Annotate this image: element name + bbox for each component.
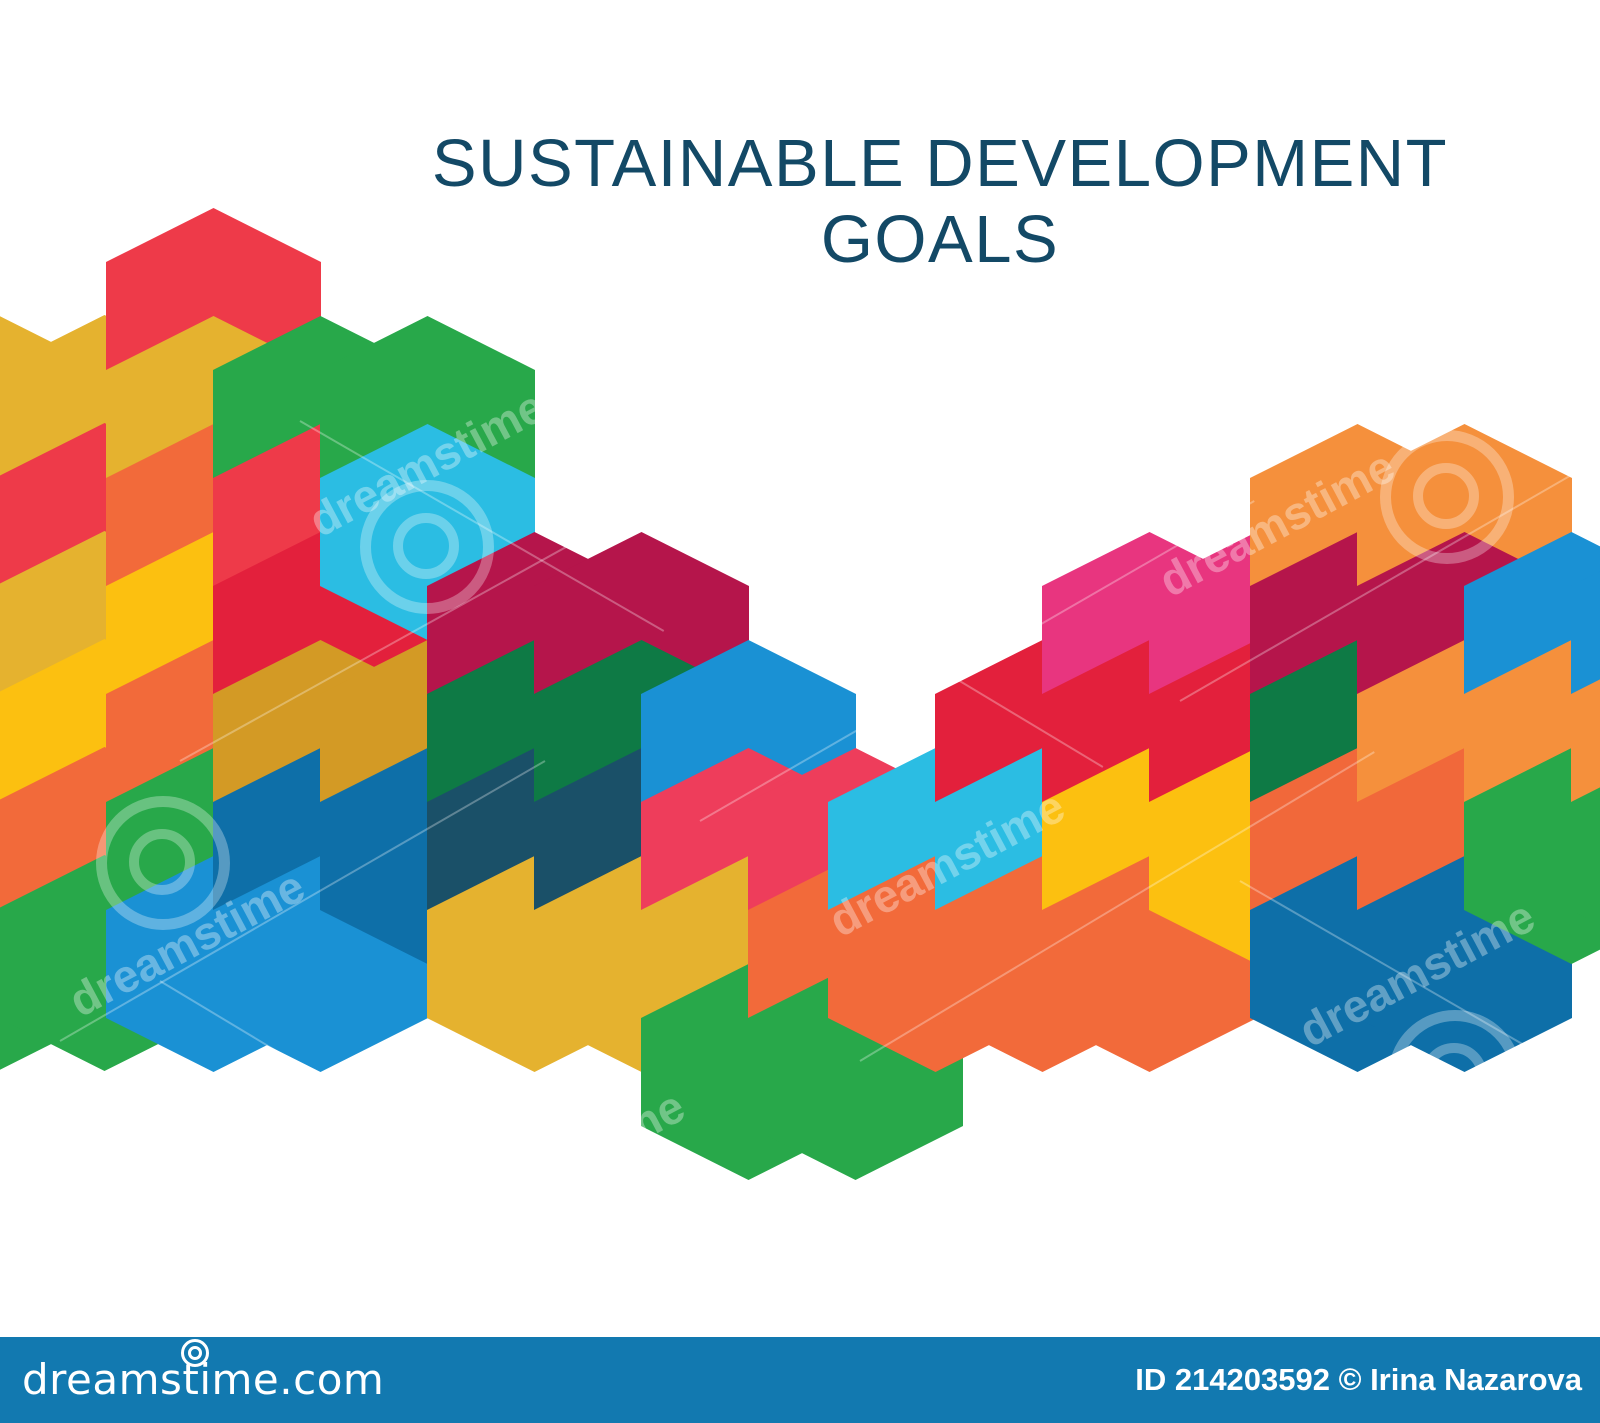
chevron-tiles xyxy=(0,208,1600,1180)
dreamstime-logo[interactable]: dreamstime.com xyxy=(22,1359,384,1401)
stock-footer-bar: dreamstime.com ID 214203592 © Irina Naza… xyxy=(0,1337,1600,1423)
chevron-mosaic-artwork xyxy=(0,0,1600,1340)
dreamstime-logo-text: dreamstime.com xyxy=(22,1359,384,1401)
chevron-mosaic-svg xyxy=(0,0,1600,1340)
spiral-icon xyxy=(181,1339,209,1367)
illustration-canvas: dreamstimedreamstimedreamstimedreamstime… xyxy=(0,0,1600,1423)
image-id-credit: ID 214203592 © Irina Nazarova xyxy=(1135,1362,1582,1398)
